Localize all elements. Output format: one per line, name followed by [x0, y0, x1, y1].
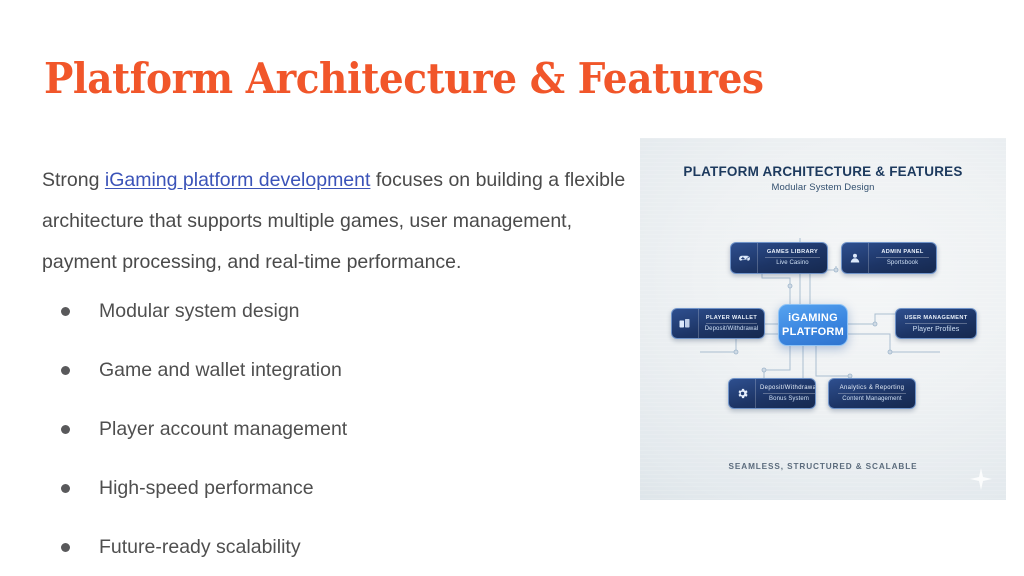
bullet-label: High-speed performance [99, 476, 314, 500]
slide-canvas: Platform Architecture & Features Strong … [0, 0, 1024, 576]
bullet-dot-icon [61, 425, 70, 434]
bullet-dot-icon [61, 484, 70, 493]
list-item: Player account management [42, 417, 638, 476]
page-title: Platform Architecture & Features [44, 54, 764, 104]
diagram-footer-caption: SEAMLESS, STRUCTURED & SCALABLE [640, 462, 1006, 471]
diagram-node-player-wallet[interactable]: PLAYER WALLET Deposit/Withdrawal [671, 308, 765, 339]
node-text: USER MANAGEMENT Player Profiles [896, 309, 976, 338]
list-item: High-speed performance [42, 476, 638, 535]
node-subtitle: Live Casino [762, 258, 823, 269]
bullet-label: Future-ready scalability [99, 535, 301, 559]
center-node-line1: iGAMING [788, 311, 838, 325]
node-title: Analytics & Reporting [835, 383, 909, 393]
diagram-node-admin-panel[interactable]: ADMIN PANEL Sportsbook [841, 242, 937, 274]
list-item: Modular system design [42, 299, 638, 358]
diagram-node-igaming-platform[interactable]: iGAMING PLATFORM [778, 304, 848, 346]
node-subtitle: Player Profiles [902, 324, 970, 335]
sparkle-icon [970, 468, 992, 490]
center-node-line2: PLATFORM [782, 325, 844, 339]
node-text: PLAYER WALLET Deposit/Withdrawal [699, 309, 764, 338]
left-content-column: Strong iGaming platform development focu… [42, 160, 638, 576]
intro-paragraph: Strong iGaming platform development focu… [42, 160, 638, 283]
node-subtitle: Bonus System [760, 394, 816, 405]
diagram-node-games-library[interactable]: GAMES LIBRARY Live Casino [730, 242, 828, 274]
igaming-platform-development-link[interactable]: iGaming platform development [105, 169, 371, 191]
bullet-dot-icon [61, 543, 70, 552]
node-text: Analytics & Reporting Content Management [829, 379, 915, 408]
gear-icon [729, 379, 756, 408]
bullet-label: Modular system design [99, 299, 300, 323]
node-title: ADMIN PANEL [873, 247, 932, 257]
node-title: Deposit/Withdrawal [760, 383, 816, 393]
list-item: Future-ready scalability [42, 535, 638, 576]
diagram-node-payments[interactable]: Deposit/Withdrawal Bonus System [728, 378, 816, 409]
bullet-label: Game and wallet integration [99, 358, 342, 382]
list-item: Game and wallet integration [42, 358, 638, 417]
node-title: PLAYER WALLET [703, 313, 760, 323]
bullet-dot-icon [61, 366, 70, 375]
node-text: GAMES LIBRARY Live Casino [758, 243, 827, 273]
node-text: ADMIN PANEL Sportsbook [869, 243, 936, 273]
bullet-dot-icon [61, 307, 70, 316]
node-subtitle: Deposit/Withdrawal [703, 324, 760, 335]
node-subtitle: Content Management [835, 394, 909, 405]
wallet-icon [672, 309, 699, 338]
person-icon [842, 243, 869, 273]
diagram-node-user-management[interactable]: USER MANAGEMENT Player Profiles [895, 308, 977, 339]
diagram-node-analytics[interactable]: Analytics & Reporting Content Management [828, 378, 916, 409]
node-title: USER MANAGEMENT [902, 313, 970, 323]
bullet-label: Player account management [99, 417, 347, 441]
node-text: Deposit/Withdrawal Bonus System [756, 379, 816, 408]
node-subtitle: Sportsbook [873, 258, 932, 269]
gamepad-icon [731, 243, 758, 273]
intro-text-before: Strong [42, 169, 105, 191]
architecture-diagram-image: PLATFORM ARCHITECTURE & FEATURES Modular… [640, 138, 1006, 500]
feature-bullet-list: Modular system design Game and wallet in… [42, 299, 638, 576]
node-title: GAMES LIBRARY [762, 247, 823, 257]
